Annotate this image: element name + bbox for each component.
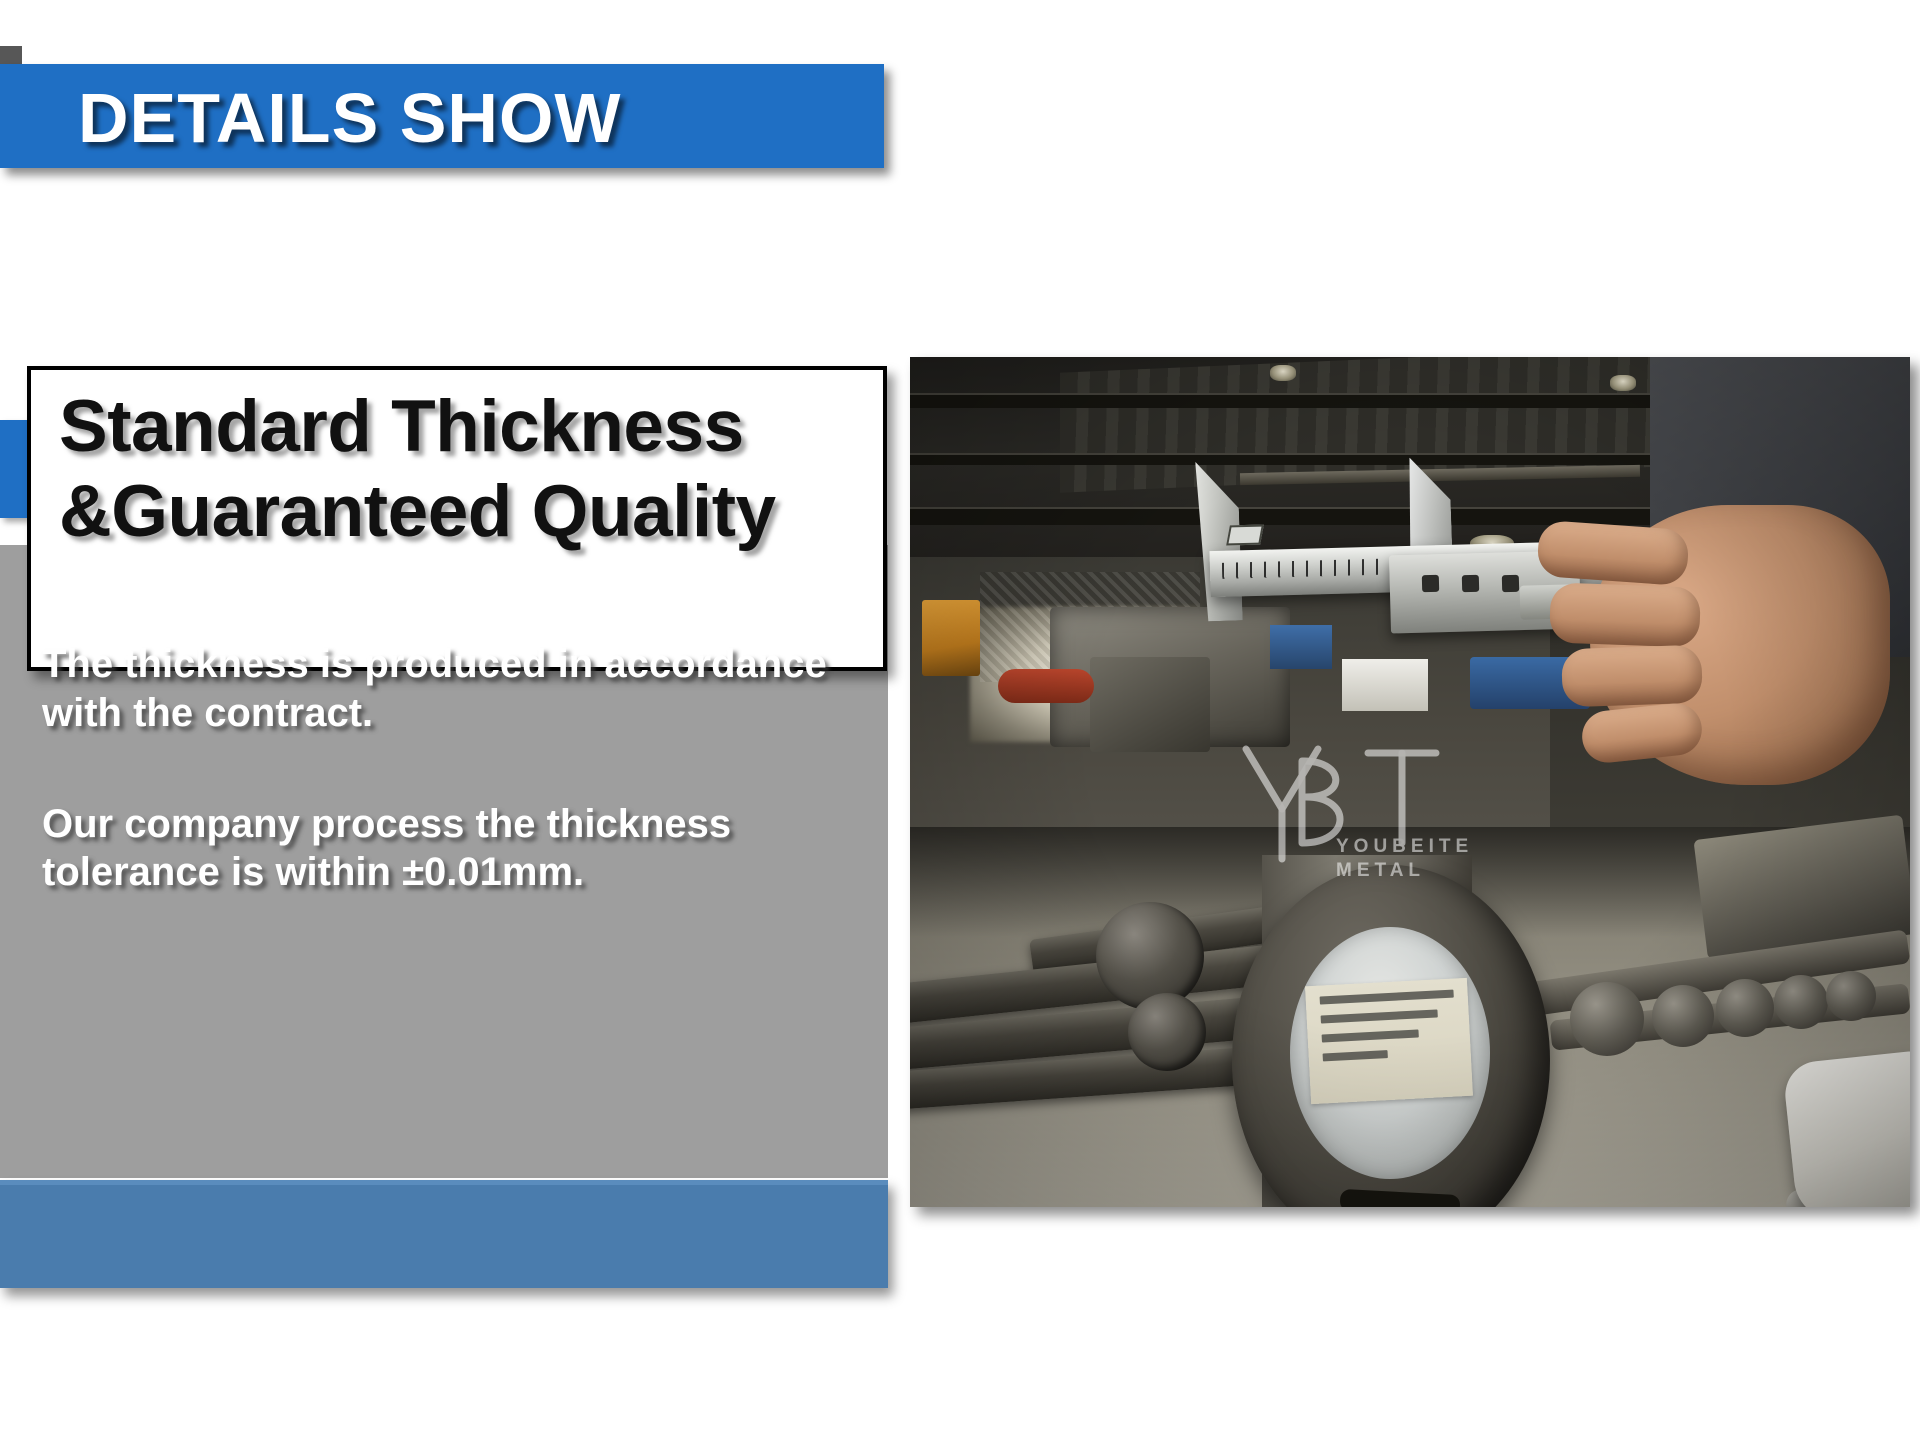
photo-label-text-line-3 xyxy=(1322,1029,1419,1042)
photo-bar-paper-label xyxy=(1305,978,1473,1104)
photo-rod-end-5 xyxy=(1826,971,1876,1021)
left-accent-bar xyxy=(0,420,28,518)
photo-ceiling-lamp-2 xyxy=(1610,375,1636,391)
watermark-line-2: METAL xyxy=(1336,860,1425,881)
bottom-accent-highlight xyxy=(0,1180,888,1185)
photo-caliper-slider-hole-1 xyxy=(1422,575,1439,592)
bottom-accent-bar xyxy=(0,1180,888,1288)
photo-caliper-brand-mark xyxy=(1226,525,1264,546)
photo-machine-head xyxy=(1090,657,1210,752)
photo-bar-end-2 xyxy=(1128,993,1206,1071)
description-paragraph-1: The thickness is produced in accordance … xyxy=(42,640,852,738)
photo-blue-crate xyxy=(1270,625,1332,669)
photo-ceiling-lamp-1 xyxy=(1270,365,1296,381)
photo-caliper-slider-hole-2 xyxy=(1462,575,1479,592)
photo-label-text-line-2 xyxy=(1321,1009,1438,1023)
photo-watermark: YOUBEITE METAL xyxy=(1240,739,1570,889)
photo-rod-end-1 xyxy=(1570,982,1644,1056)
page-title: DETAILS SHOW xyxy=(78,72,878,164)
photo-finger-middle xyxy=(1549,582,1701,647)
photo-finger-ring xyxy=(1561,645,1703,708)
photo-rod-end-3 xyxy=(1716,979,1774,1037)
slide-root: DETAILS SHOW Standard Thickness &Guarant… xyxy=(0,0,1920,1440)
photo-shoe xyxy=(1782,1050,1910,1207)
description-paragraph-2: Our company process the thickness tolera… xyxy=(42,800,852,898)
photo-rod-end-2 xyxy=(1652,985,1714,1047)
headline-box: Standard Thickness &Guaranteed Quality xyxy=(27,366,887,671)
description-text: The thickness is produced in accordance … xyxy=(42,640,852,897)
photo-caliper-slider-hole-3 xyxy=(1502,575,1519,592)
photo-finger-index xyxy=(1536,520,1690,586)
photo-white-box xyxy=(1342,659,1428,711)
headline-line-1: Standard Thickness xyxy=(59,384,883,469)
photo-bar-end-1 xyxy=(1096,902,1204,1010)
headline-line-2: &Guaranteed Quality xyxy=(59,469,883,554)
watermark-line-1: YOUBEITE xyxy=(1336,836,1473,857)
watermark-text: YOUBEITE METAL xyxy=(1336,835,1473,883)
photo-rod-end-4 xyxy=(1774,975,1828,1029)
product-photo: YOUBEITE METAL xyxy=(910,357,1910,1207)
photo-label-text-line-1 xyxy=(1320,990,1454,1005)
photo-label-text-line-4 xyxy=(1323,1050,1388,1061)
photo-red-cylinder xyxy=(998,669,1094,703)
photo-yellow-equipment xyxy=(922,600,980,676)
